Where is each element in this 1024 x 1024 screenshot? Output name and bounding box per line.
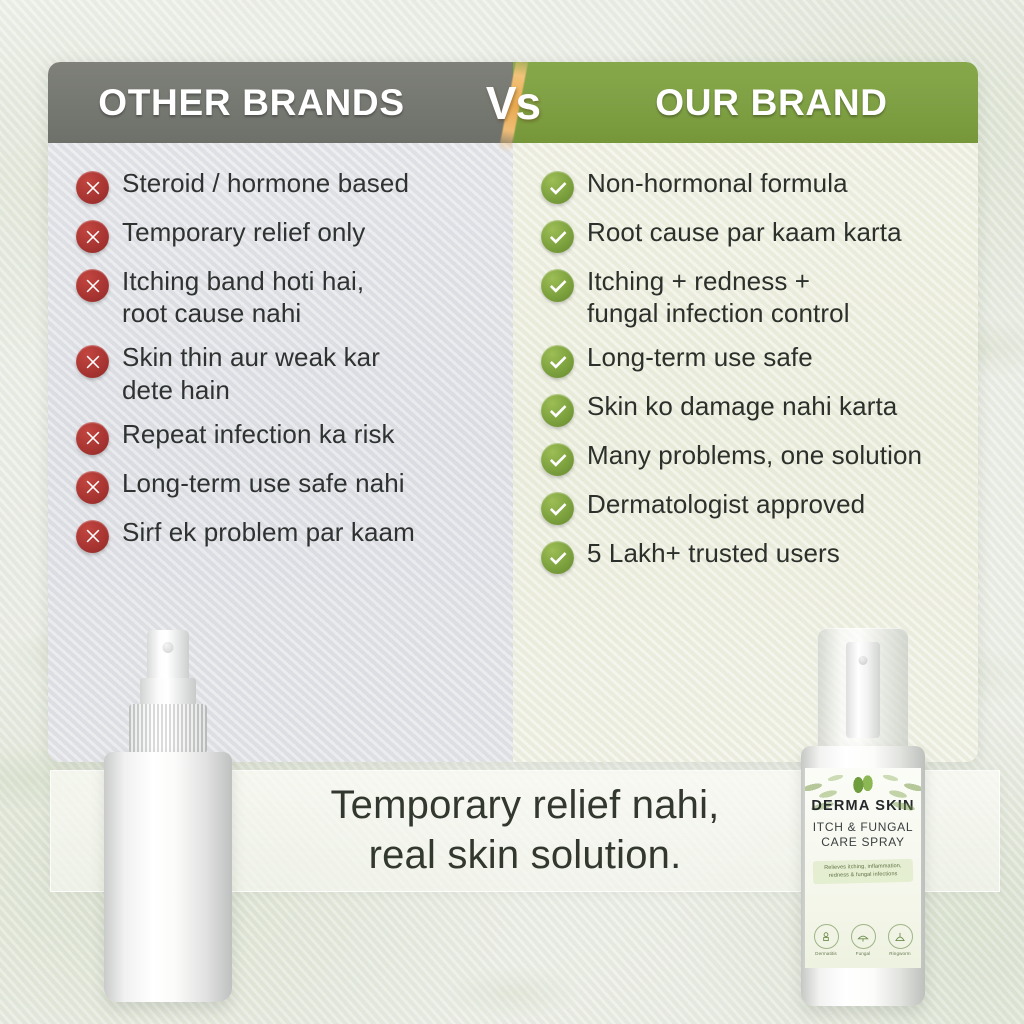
product-badge: Dermatitis xyxy=(812,924,840,956)
comparison-poster: OTHER BRANDS Steroid / hormone basedTemp… xyxy=(0,0,1024,1024)
list-item: Sirf ek problem par kaam xyxy=(76,516,497,553)
cross-icon xyxy=(76,520,109,553)
bottle-neck xyxy=(140,678,196,706)
our-brand-header: OUR BRAND xyxy=(513,62,978,143)
other-brands-list: Steroid / hormone basedTemporary relief … xyxy=(48,143,513,553)
bottle-nozzle xyxy=(846,642,880,738)
list-item: Dermatologist approved xyxy=(541,488,962,525)
product-badge-label: Dermatitis xyxy=(812,951,840,956)
tagline: Temporary relief nahi, real skin solutio… xyxy=(330,781,719,880)
list-item-label: Dermatologist approved xyxy=(587,488,865,520)
check-icon xyxy=(541,443,574,476)
check-icon xyxy=(541,541,574,574)
other-brands-header: OTHER BRANDS xyxy=(48,62,513,143)
list-item-label: Root cause par kaam karta xyxy=(587,216,902,248)
our-brand-list: Non-hormonal formulaRoot cause par kaam … xyxy=(513,143,978,574)
list-item-label: 5 Lakh+ trusted users xyxy=(587,537,840,569)
dermatitis-icon xyxy=(814,924,839,949)
list-item-label: Steroid / hormone based xyxy=(122,167,409,199)
cross-icon xyxy=(76,171,109,204)
list-item: Skin ko damage nahi karta xyxy=(541,390,962,427)
product-badge: Ringworm xyxy=(886,924,914,956)
list-item: Repeat infection ka risk xyxy=(76,418,497,455)
product-claim: Relieves itching, inflammation, redness … xyxy=(813,859,914,884)
list-item: Itching band hoti hai,root cause nahi xyxy=(76,265,497,329)
other-brands-title: OTHER BRANDS xyxy=(98,82,404,124)
list-item-label: Non-hormonal formula xyxy=(587,167,848,199)
bottle-nozzle xyxy=(147,630,189,680)
cross-icon xyxy=(76,471,109,504)
list-item: Long-term use safe xyxy=(541,341,962,378)
check-icon xyxy=(541,492,574,525)
list-item-label: Temporary relief only xyxy=(122,216,365,248)
product-badge: Fungal xyxy=(849,924,877,956)
tagline-line-1: Temporary relief nahi, xyxy=(330,783,719,827)
bottle-body xyxy=(104,752,232,1002)
product-badge-row: DermatitisFungalRingworm xyxy=(805,924,921,956)
derma-skin-spray-bottle: DERMA SKIN ITCH & FUNGAL CARE SPRAY Reli… xyxy=(788,628,938,1006)
product-badge-label: Ringworm xyxy=(886,951,914,956)
list-item-label: Long-term use safe xyxy=(587,341,813,373)
ringworm-icon xyxy=(888,924,913,949)
leaf-icon xyxy=(850,774,876,796)
bottle-collar xyxy=(129,704,207,754)
list-item-label: Skin thin aur weak kardete hain xyxy=(122,341,380,405)
list-item: 5 Lakh+ trusted users xyxy=(541,537,962,574)
check-icon xyxy=(541,345,574,378)
list-item-label: Sirf ek problem par kaam xyxy=(122,516,415,548)
list-item-label: Itching band hoti hai,root cause nahi xyxy=(122,265,364,329)
vs-label: Vs xyxy=(465,76,561,130)
cross-icon xyxy=(76,422,109,455)
check-icon xyxy=(541,269,574,302)
cross-icon xyxy=(76,269,109,302)
product-name: ITCH & FUNGAL CARE SPRAY xyxy=(805,820,921,849)
our-brand-title: OUR BRAND xyxy=(655,82,887,124)
list-item: Many problems, one solution xyxy=(541,439,962,476)
check-icon xyxy=(541,394,574,427)
list-item: Long-term use safe nahi xyxy=(76,467,497,504)
list-item: Temporary relief only xyxy=(76,216,497,253)
cross-icon xyxy=(76,220,109,253)
bottle-body: DERMA SKIN ITCH & FUNGAL CARE SPRAY Reli… xyxy=(801,746,925,1006)
list-item-label: Skin ko damage nahi karta xyxy=(587,390,897,422)
list-item: Steroid / hormone based xyxy=(76,167,497,204)
competitor-spray-bottle xyxy=(104,630,232,1002)
product-brand: DERMA SKIN xyxy=(805,798,921,814)
list-item: Root cause par kaam karta xyxy=(541,216,962,253)
list-item-label: Long-term use safe nahi xyxy=(122,467,405,499)
product-label: DERMA SKIN ITCH & FUNGAL CARE SPRAY Reli… xyxy=(805,768,921,968)
list-item-label: Itching + redness +fungal infection cont… xyxy=(587,265,850,329)
tagline-line-2: real skin solution. xyxy=(330,831,719,881)
list-item: Itching + redness +fungal infection cont… xyxy=(541,265,962,329)
product-name-line-1: ITCH & FUNGAL xyxy=(813,820,913,834)
check-icon xyxy=(541,220,574,253)
fungal-icon xyxy=(851,924,876,949)
list-item-label: Many problems, one solution xyxy=(587,439,922,471)
product-name-line-2: CARE SPRAY xyxy=(821,835,904,849)
product-badge-label: Fungal xyxy=(849,951,877,956)
list-item-label: Repeat infection ka risk xyxy=(122,418,395,450)
cross-icon xyxy=(76,345,109,378)
check-icon xyxy=(541,171,574,204)
list-item: Non-hormonal formula xyxy=(541,167,962,204)
list-item: Skin thin aur weak kardete hain xyxy=(76,341,497,405)
